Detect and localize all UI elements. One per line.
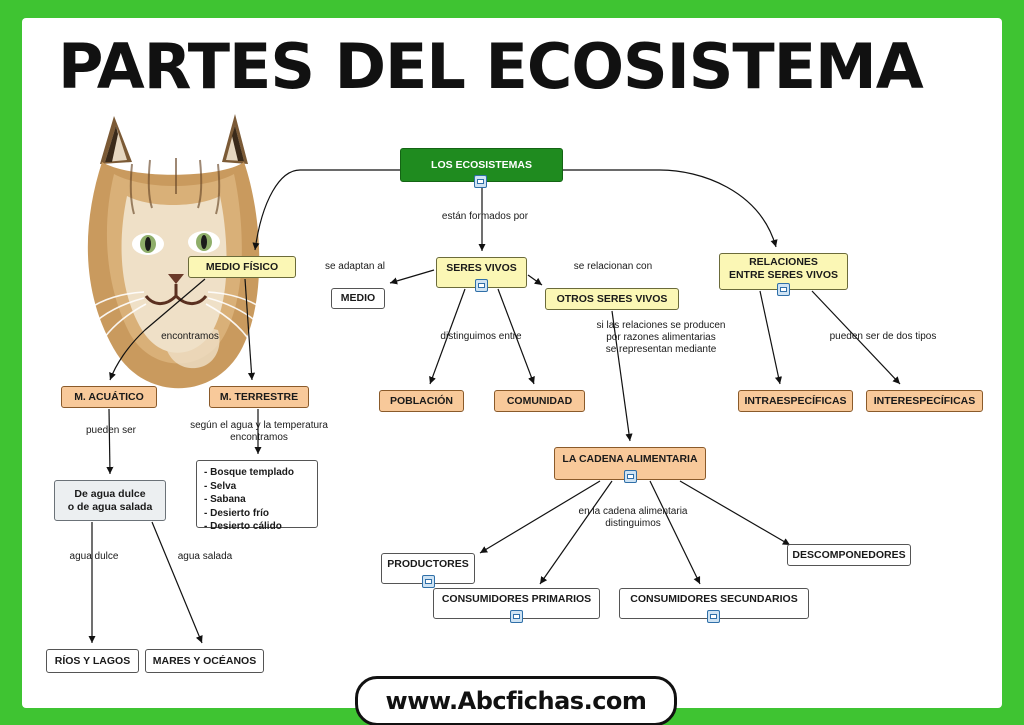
node-icon[interactable] [777, 283, 790, 296]
node-label: RELACIONES ENTRE SERES VIVOS [729, 256, 838, 280]
connector-label-distinguimos-entre: distinguimos entre [425, 331, 537, 343]
node-icon[interactable] [624, 470, 637, 483]
node-m-terrestre[interactable]: M. TERRESTRE [209, 386, 309, 408]
node-mares-y-oceanos[interactable]: MARES Y OCÉANOS [145, 649, 264, 673]
node-descomponedores[interactable]: DESCOMPONEDORES [787, 544, 911, 566]
node-label: De agua dulce o de agua salada [68, 488, 153, 512]
connector-label-pueden-ser: pueden ser [75, 425, 147, 437]
connector-label-encontramos: encontramos [150, 331, 230, 343]
lynx-illustration [72, 104, 287, 404]
connector-label-segun-el-agua: según el agua y la temperatura encontram… [168, 420, 350, 444]
node-biomas-list[interactable]: - Bosque templado - Selva - Sabana - Des… [196, 460, 318, 528]
footer-watermark: www.Abcfichas.com [355, 676, 677, 725]
node-label: LOS ECOSISTEMAS [431, 159, 532, 171]
node-label: INTRAESPECÍFICAS [744, 395, 846, 407]
node-label: MEDIO FÍSICO [206, 261, 278, 273]
node-label: POBLACIÓN [390, 395, 453, 407]
footer-text: www.Abcfichas.com [386, 687, 647, 715]
connector-label-se-relacionan-con: se relacionan con [560, 261, 666, 273]
node-icon[interactable] [707, 610, 720, 623]
node-icon[interactable] [475, 279, 488, 292]
node-comunidad[interactable]: COMUNIDAD [494, 390, 585, 412]
node-medio-fisico[interactable]: MEDIO FÍSICO [188, 256, 296, 278]
list-item: - Selva [204, 480, 236, 494]
node-de-agua-dulce-o-salada[interactable]: De agua dulce o de agua salada [54, 480, 166, 521]
node-icon[interactable] [422, 575, 435, 588]
poster-page: PARTES DEL ECOSISTEMA [0, 0, 1024, 725]
list-item: - Sabana [204, 493, 246, 507]
connector-label-razones-alimentarias: si las relaciones se producen por razone… [570, 320, 752, 356]
node-poblacion[interactable]: POBLACIÓN [379, 390, 464, 412]
node-label: SERES VIVOS [446, 262, 517, 274]
node-label: LA CADENA ALIMENTARIA [562, 453, 697, 465]
node-label: OTROS SERES VIVOS [557, 293, 668, 305]
node-interespecificas[interactable]: INTERESPECÍFICAS [866, 390, 983, 412]
connector-label-agua-salada: agua salada [166, 551, 244, 563]
node-label: MEDIO [341, 292, 375, 304]
node-rios-y-lagos[interactable]: RÍOS Y LAGOS [46, 649, 139, 673]
node-label: RÍOS Y LAGOS [55, 655, 130, 667]
connector-label-en-la-cadena: en la cadena alimentaria distinguimos [558, 506, 708, 530]
node-icon[interactable] [510, 610, 523, 623]
list-item: - Bosque templado [204, 466, 294, 480]
node-icon[interactable] [474, 175, 487, 188]
node-label: M. ACUÁTICO [74, 391, 144, 403]
connector-label-se-adaptan-al: se adaptan al [315, 261, 395, 273]
node-label: INTERESPECÍFICAS [874, 395, 976, 407]
connector-label-estan-formados-por: están formados por [425, 211, 545, 223]
list-item: - Desierto cálido [204, 520, 282, 534]
page-title: PARTES DEL ECOSISTEMA [58, 30, 923, 103]
node-label: MARES Y OCÉANOS [153, 655, 256, 667]
node-label: DESCOMPONEDORES [792, 549, 905, 561]
node-label: CONSUMIDORES PRIMARIOS [442, 593, 591, 605]
connector-label-agua-dulce: agua dulce [57, 551, 131, 563]
node-label: PRODUCTORES [387, 558, 468, 570]
node-label: CONSUMIDORES SECUNDARIOS [630, 593, 797, 605]
list-item: - Desierto frío [204, 507, 269, 521]
connector-label-pueden-ser-de-dos-tipos: pueden ser de dos tipos [813, 331, 953, 343]
node-label: M. TERRESTRE [220, 391, 298, 403]
node-intraespecificas[interactable]: INTRAESPECÍFICAS [738, 390, 853, 412]
node-m-acuatico[interactable]: M. ACUÁTICO [61, 386, 157, 408]
node-otros-seres-vivos[interactable]: OTROS SERES VIVOS [545, 288, 679, 310]
node-medio[interactable]: MEDIO [331, 288, 385, 309]
node-label: COMUNIDAD [507, 395, 572, 407]
